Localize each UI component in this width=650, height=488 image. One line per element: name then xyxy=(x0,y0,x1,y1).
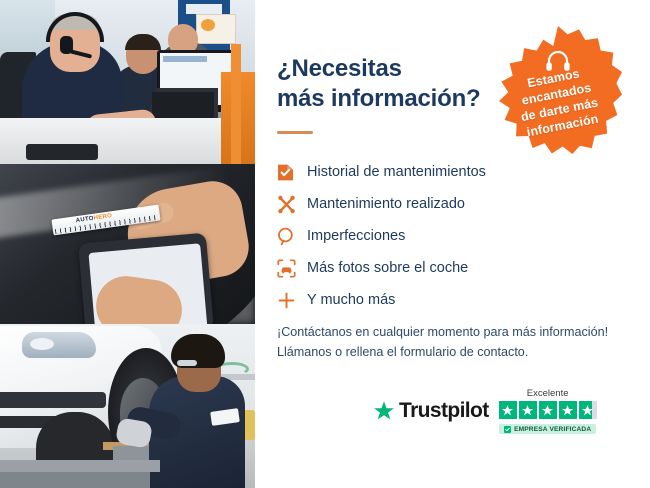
car-lift-arm xyxy=(0,460,160,472)
star-2 xyxy=(519,401,537,419)
star-3 xyxy=(539,401,557,419)
trustpilot-score: Excelente xyxy=(499,388,597,434)
car-headlight xyxy=(22,332,96,358)
feature-item-maintenance-history: Historial de mantenimientos xyxy=(277,156,597,188)
brochure-stand xyxy=(196,14,236,44)
feature-label: Más fotos sobre el coche xyxy=(307,260,468,276)
feature-item-much-more: Y mucho más xyxy=(277,284,597,316)
poster-highlight xyxy=(186,4,222,14)
page-title-line-1: ¿Necesitas xyxy=(277,55,402,82)
rating-label: Excelente xyxy=(527,388,569,399)
car-lift-platform xyxy=(0,472,150,488)
desk-tablet xyxy=(26,144,98,160)
plus-icon xyxy=(277,291,307,310)
trustpilot-logo[interactable]: Trustpilot xyxy=(373,399,489,423)
magnifier-icon xyxy=(277,227,307,246)
trustpilot-wordmark: Trustpilot xyxy=(399,399,489,423)
contact-line-1: ¡Contáctanos en cualquier momento para m… xyxy=(277,325,608,339)
monitor-screen-bar xyxy=(163,56,207,62)
trustpilot-rating-block[interactable]: Trustpilot Excelente xyxy=(373,388,623,434)
page-title-line-2: más información? xyxy=(277,85,481,112)
star-rating xyxy=(499,401,597,419)
contact-copy: ¡Contáctanos en cualquier momento para m… xyxy=(277,322,637,363)
photo-autohero-ruler-measuring-dark-car: AUTOHERO xyxy=(0,164,255,324)
crossed-tools-icon xyxy=(277,195,307,214)
photo-call-center-agents-with-headsets xyxy=(0,0,255,164)
title-underline-rule xyxy=(277,131,313,134)
feature-label: Y mucho más xyxy=(307,292,395,308)
feature-label: Historial de mantenimientos xyxy=(307,164,486,180)
orange-shelving-post xyxy=(231,44,241,164)
feature-label: Imperfecciones xyxy=(307,228,405,244)
page-title: ¿Necesitasmás información? xyxy=(277,54,527,114)
feature-item-more-car-photos: Más fotos sobre el coche xyxy=(277,252,597,284)
verified-company-label: EMPRESA VERIFICADA xyxy=(514,426,591,433)
trustpilot-star-icon xyxy=(373,400,395,422)
photo-mechanic-inspecting-white-car-on-lift xyxy=(0,324,255,488)
content-panel: ¿Necesitasmás información? Estamos encan… xyxy=(255,0,650,488)
feature-list: Historial de mantenimientos M xyxy=(277,156,597,316)
document-check-icon xyxy=(277,163,307,182)
car-photo-frame-icon xyxy=(277,259,307,278)
info-promo-poster: AUTOHERO xyxy=(0,0,650,488)
star-1 xyxy=(499,401,517,419)
photo-column: AUTOHERO xyxy=(0,0,255,488)
verified-check-icon xyxy=(504,426,511,433)
verified-company-badge: EMPRESA VERIFICADA xyxy=(499,424,596,434)
contact-line-2: Llámanos o rellena el formulario de cont… xyxy=(277,345,528,359)
promo-starburst-badge: Estamos encantados de darte más informac… xyxy=(494,26,622,154)
feature-item-maintenance-done: Mantenimiento realizado xyxy=(277,188,597,220)
feature-label: Mantenimiento realizado xyxy=(307,196,465,212)
safety-glasses xyxy=(177,360,197,366)
star-5-partial xyxy=(579,401,597,419)
feature-item-imperfections: Imperfecciones xyxy=(277,220,597,252)
star-4 xyxy=(559,401,577,419)
car-lower-grille xyxy=(0,392,106,408)
